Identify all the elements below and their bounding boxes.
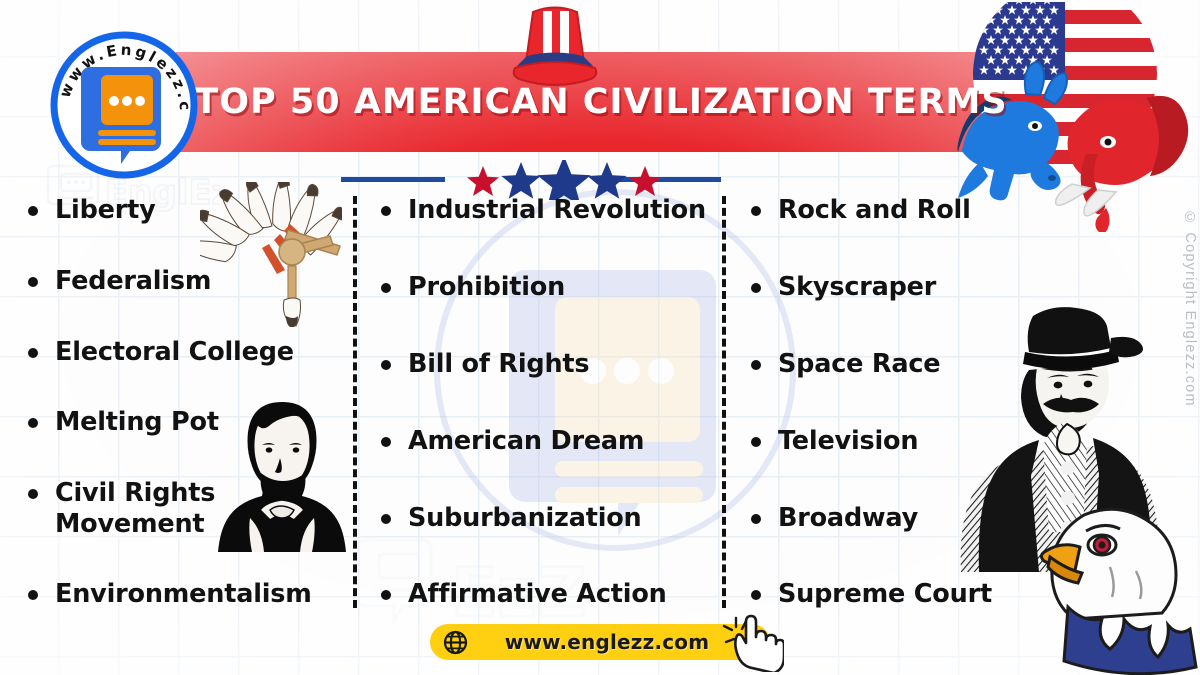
star-blue-center — [537, 160, 591, 200]
brand-logo[interactable]: www.Englezz.com — [48, 29, 200, 181]
column-divider-2 — [722, 196, 726, 608]
term-item: Electoral College — [22, 337, 327, 368]
term-item: Affirmative Action — [375, 579, 710, 610]
star-blue-left — [501, 162, 540, 199]
divider-line-left — [341, 177, 445, 182]
term-item: Suburbanization — [375, 503, 710, 534]
term-item: Environmentalism — [22, 579, 327, 610]
term-item: Prohibition — [375, 272, 710, 303]
bald-eagle-head-icon — [1040, 495, 1200, 675]
star-red-right — [629, 166, 661, 196]
term-item: Bill of Rights — [375, 349, 710, 380]
uncle-sam-top-hat-icon — [505, 0, 605, 86]
native-american-feather-headdress-icon — [200, 182, 342, 327]
term-item: American Dream — [375, 426, 710, 457]
term-item: Industrial Revolution — [375, 195, 710, 226]
term-item: Civil Rights Movement — [22, 478, 245, 539]
globe-icon — [443, 630, 468, 655]
column-divider-1 — [353, 196, 357, 608]
englezz-book-icon — [81, 67, 161, 164]
terms-column-2: Industrial Revolution Prohibition Bill o… — [375, 195, 710, 610]
pointing-hand-cursor-icon — [722, 614, 784, 672]
term-item: Supreme Court — [745, 579, 1035, 610]
star-red-left — [467, 166, 499, 196]
copyright-text: © Copyright Englezz.com — [1182, 210, 1198, 407]
poster-canvas: EnglEzz EzZ TOP 50 AMERICAN CIVILIZATION… — [0, 0, 1200, 675]
website-footer-pill[interactable]: www.englezz.com — [430, 624, 770, 660]
star-blue-right — [587, 162, 626, 199]
abraham-lincoln-portrait — [214, 388, 350, 553]
stars-divider — [335, 160, 725, 200]
